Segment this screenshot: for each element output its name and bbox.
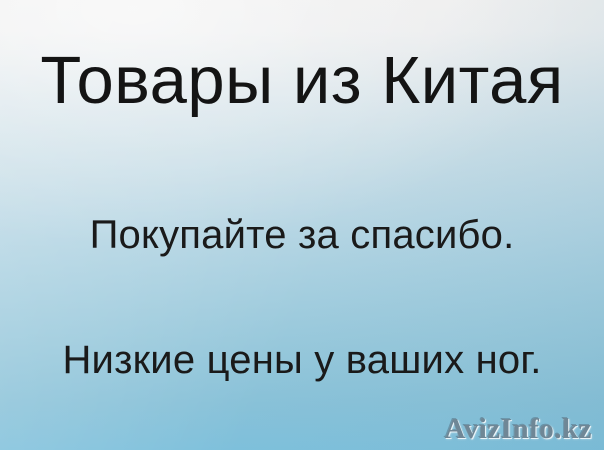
banner-subline-primary: Покупайте за спасибо. bbox=[0, 215, 604, 255]
advertisement-banner: Товары из Китая Покупайте за спасибо. Ни… bbox=[0, 0, 604, 450]
site-watermark: AvizInfo.kz bbox=[444, 415, 592, 444]
banner-subline-secondary: Низкие цены у ваших ног. bbox=[0, 340, 604, 380]
banner-content: Товары из Китая Покупайте за спасибо. Ни… bbox=[0, 0, 604, 450]
banner-headline: Товары из Китая bbox=[0, 47, 604, 114]
